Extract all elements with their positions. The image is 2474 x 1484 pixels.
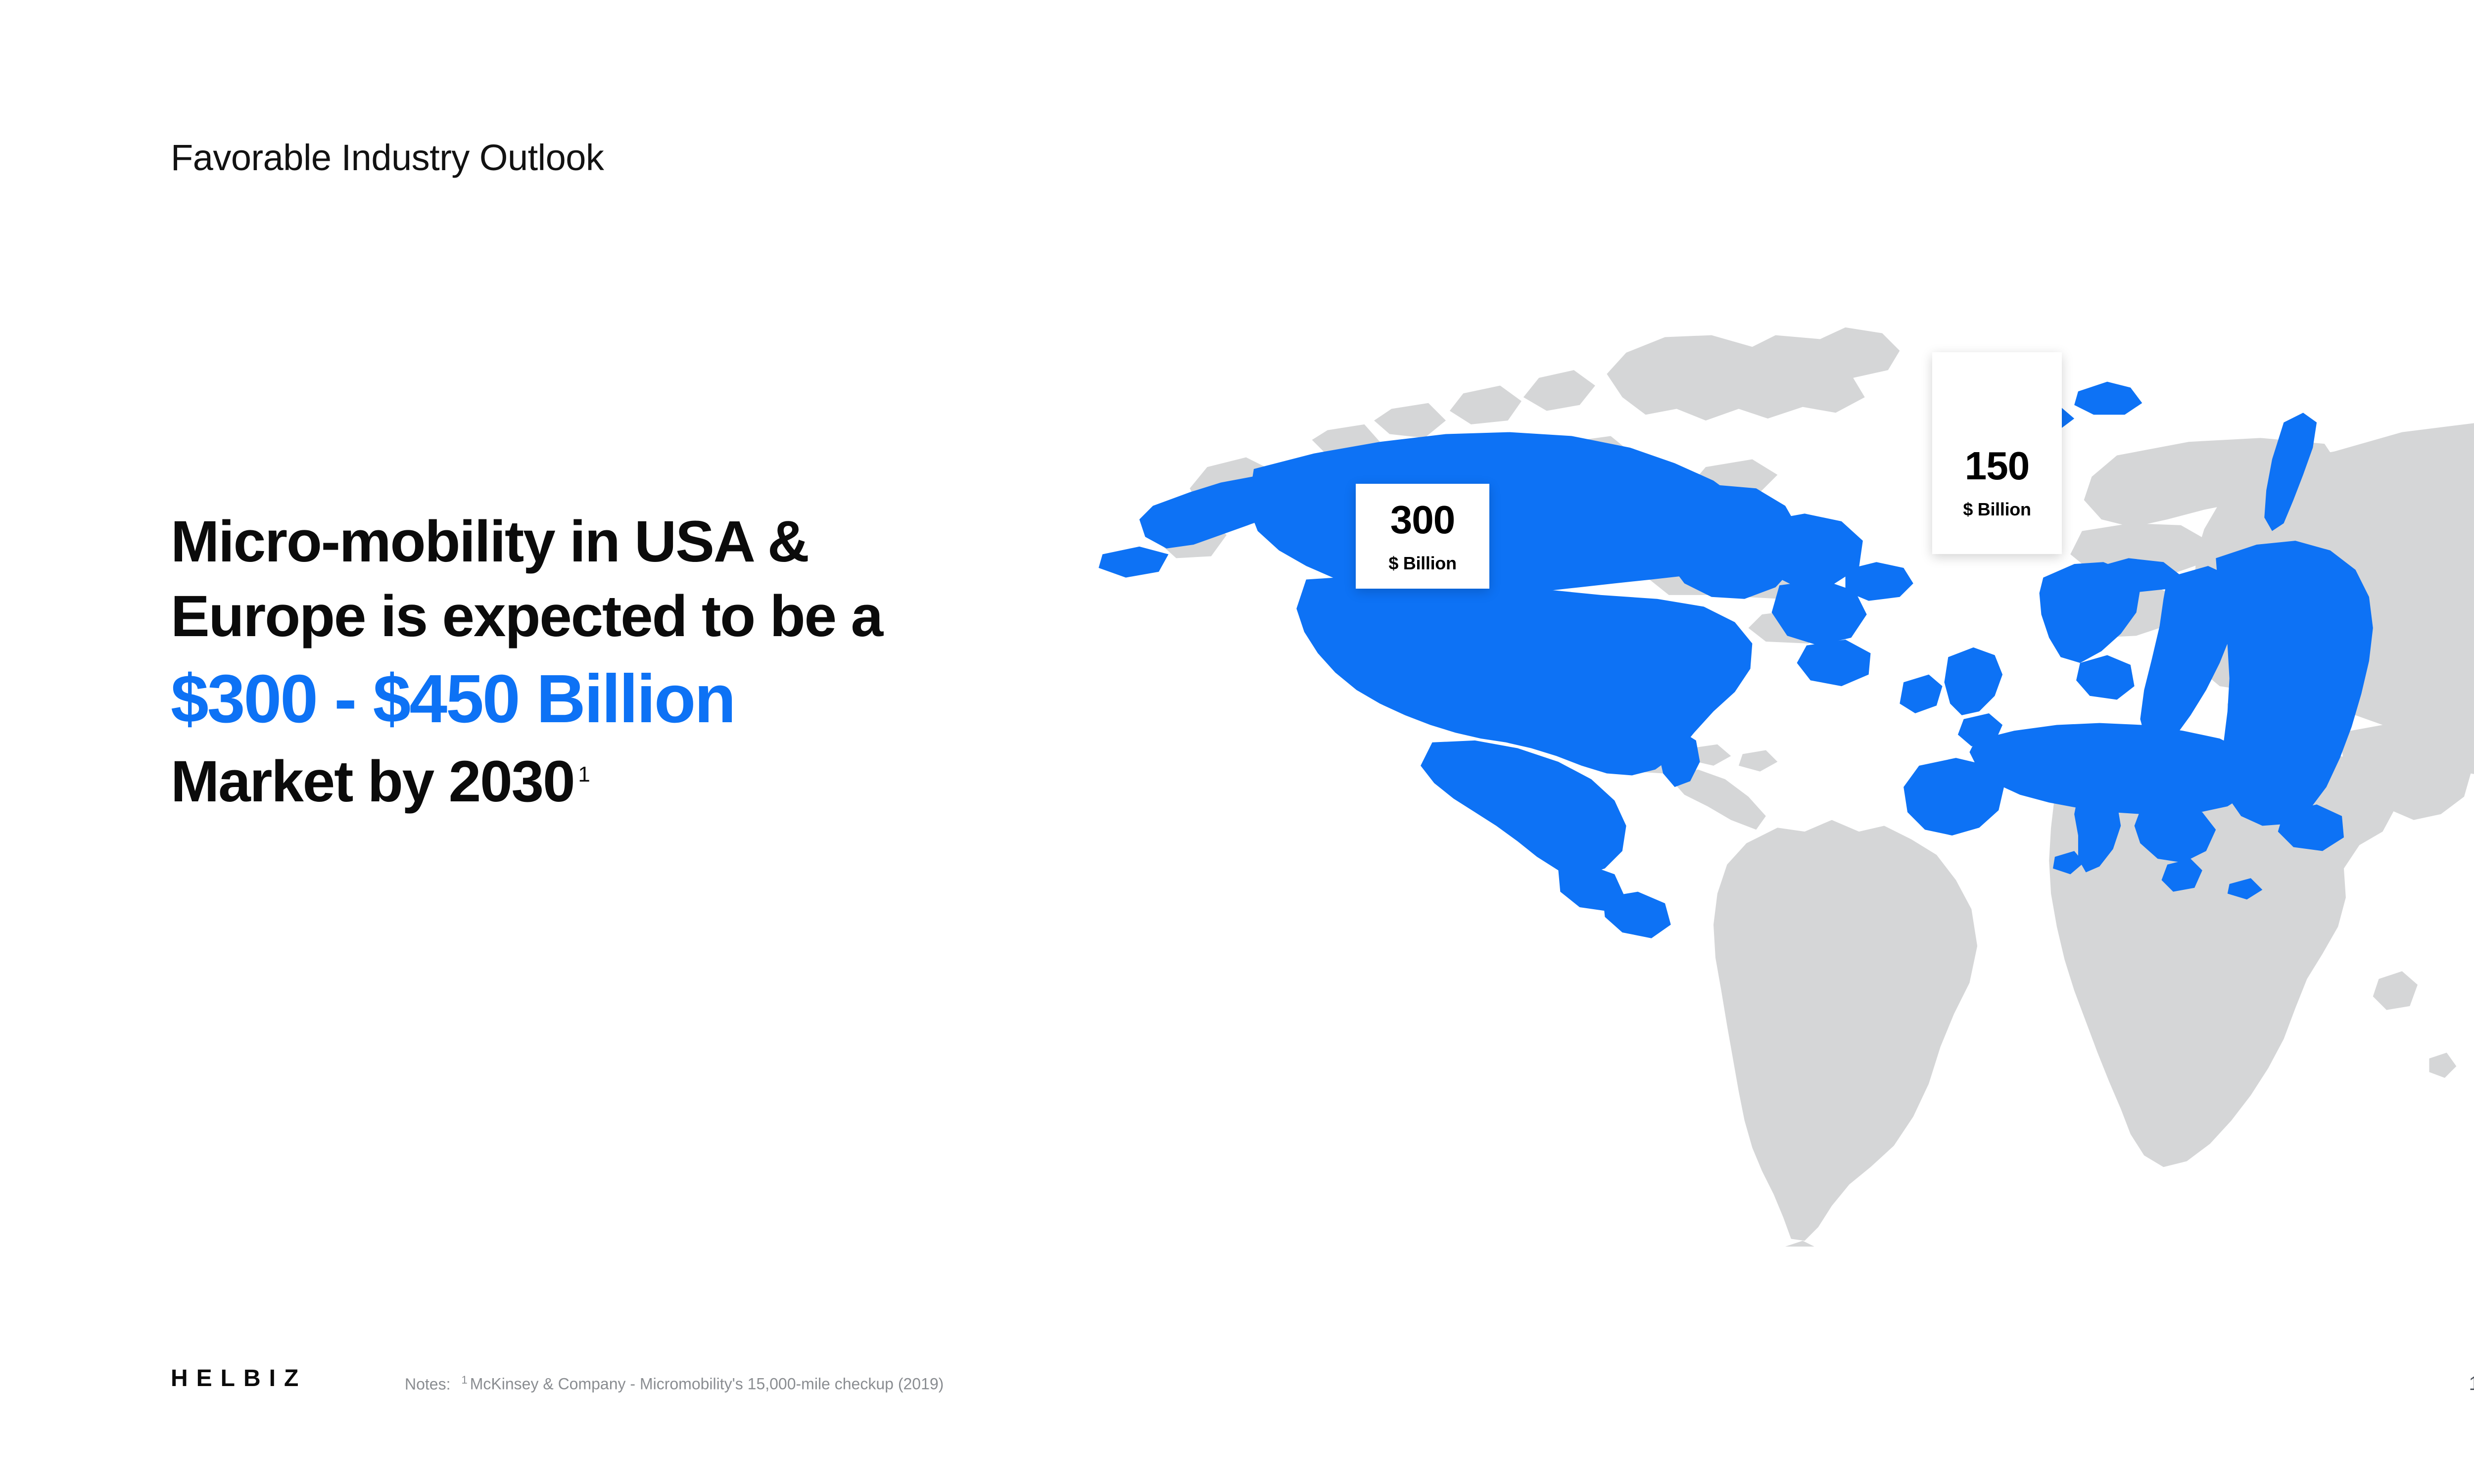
- notes-label: Notes:: [405, 1375, 450, 1393]
- headline-accent-value: $300 - $450 Billion: [171, 654, 1457, 744]
- callout-usa-value: 300: [1390, 500, 1455, 540]
- footnote-marker: 1: [578, 762, 590, 787]
- callout-europe-unit: $ Billion: [1963, 501, 2031, 518]
- callout-europe-value: 150: [1965, 446, 2029, 486]
- notes-marker: 1: [461, 1374, 467, 1386]
- slide-root: Favorable Industry Outlook: [0, 0, 2474, 1484]
- headline-line-2: Europe is expected to be a: [171, 579, 1457, 654]
- footer-notes: Notes:1McKinsey & Company - Micromobilit…: [405, 1375, 944, 1392]
- headline-block: Micro-mobility in USA & Europe is expect…: [171, 505, 1457, 820]
- headline-line-4: Market by 20301: [171, 744, 1457, 820]
- map-callout-europe: 150 $ Billion: [1932, 352, 2062, 554]
- page-number: 16: [2469, 1374, 2474, 1393]
- headline-line-1: Micro-mobility in USA &: [171, 505, 1457, 579]
- map-callout-usa: 300 $ Billion: [1356, 484, 1489, 589]
- page-title: Favorable Industry Outlook: [171, 139, 604, 176]
- callout-europe-inner: 150 $ Billion: [1963, 446, 2031, 518]
- helbiz-logo: HELBIZ: [171, 1367, 307, 1391]
- callout-usa-unit: $ Billion: [1388, 555, 1456, 572]
- headline-line-4-text: Market by 2030: [171, 749, 574, 814]
- slide-footer: HELBIZ Notes:1McKinsey & Company - Micro…: [0, 1358, 2474, 1412]
- notes-text: McKinsey & Company - Micromobility's 15,…: [470, 1375, 944, 1393]
